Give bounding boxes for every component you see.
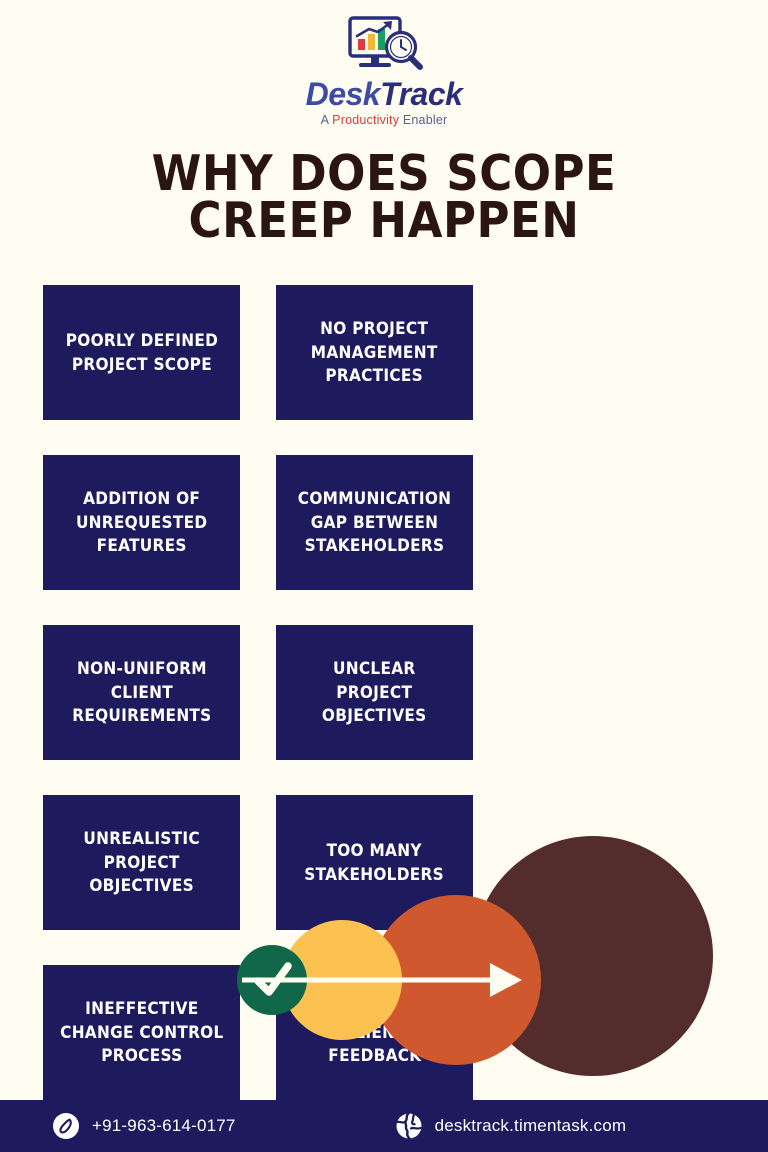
brand-wordmark-desk: Desk: [306, 76, 381, 112]
cause-label-line: Communication: [298, 489, 452, 508]
footer-website-text: desktrack.timentask.com: [435, 1116, 627, 1136]
cause-label-line: Stakeholders: [305, 536, 445, 555]
footer-phone-text: +91-963-614-0177: [92, 1116, 236, 1136]
cause-label: Non-UniformClientRequirements: [72, 657, 211, 729]
footer-phone[interactable]: +91-963-614-0177: [52, 1112, 236, 1140]
cause-label-line: Ineffective: [85, 999, 198, 1018]
cause-label-line: Project: [104, 853, 180, 872]
cause-box-no-project-management-practices: No ProjectManagementPractices: [276, 285, 473, 420]
cause-label-line: Project: [337, 683, 413, 702]
cause-label: Poorly DefinedProject Scope: [65, 329, 217, 377]
cause-label: UnclearProjectObjectives: [322, 657, 427, 729]
cause-box-unclear-project-objectives: UnclearProjectObjectives: [276, 625, 473, 760]
cause-label-line: Practices: [326, 366, 424, 385]
cause-label: No ProjectManagementPractices: [311, 317, 438, 389]
cause-label: IneffectiveChange ControlProcess: [60, 997, 223, 1069]
cause-label-line: Management: [311, 343, 438, 362]
scope-creep-growing-circles: [232, 835, 722, 1100]
brand-logo: DeskTrack A Productivity Enabler: [0, 0, 768, 127]
cause-box-unrealistic-project-objectives: UnrealisticProjectObjectives: [43, 795, 240, 930]
cause-label-line: Poorly Defined: [65, 331, 217, 350]
cause-label-line: No Project: [320, 319, 428, 338]
cause-label-line: Unclear: [333, 659, 415, 678]
brand-wordmark: DeskTrack: [306, 78, 463, 110]
cause-label-line: Requirements: [72, 706, 211, 725]
cause-label: Addition OfUnrequestedFeatures: [76, 487, 207, 559]
phone-icon: [52, 1112, 80, 1140]
cause-label-line: Gap Between: [311, 513, 439, 532]
cause-label-line: Client: [110, 683, 172, 702]
monitor-chart-clock-icon: [336, 14, 432, 76]
cause-label: CommunicationGap BetweenStakeholders: [298, 487, 452, 559]
cause-label-line: Objectives: [89, 876, 194, 895]
cause-label-line: Non-Uniform: [77, 659, 207, 678]
cause-box-addition-of-unrequested-features: Addition OfUnrequestedFeatures: [43, 455, 240, 590]
cause-box-ineffective-change-control-process: IneffectiveChange ControlProcess: [43, 965, 240, 1100]
cause-box-non-uniform-client-requirements: Non-UniformClientRequirements: [43, 625, 240, 760]
cause-label-line: Addition Of: [83, 489, 200, 508]
footer-website[interactable]: desktrack.timentask.com: [395, 1112, 627, 1140]
cause-label-line: Features: [96, 536, 186, 555]
page-title: Why Does Scope Creep Happen: [80, 151, 687, 244]
brand-wordmark-track: Track: [380, 76, 462, 112]
cause-box-communication-gap-between-stakeholders: CommunicationGap BetweenStakeholders: [276, 455, 473, 590]
footer-bar: +91-963-614-0177 desktrack.timentask.com: [0, 1100, 768, 1152]
tagline-prefix: A: [321, 113, 333, 127]
tagline-suffix: Enabler: [399, 113, 447, 127]
cause-label-line: Process: [101, 1046, 182, 1065]
cause-label-line: Unrequested: [76, 513, 207, 532]
cause-label-line: Unrealistic: [83, 829, 200, 848]
cause-label-line: Change Control: [60, 1023, 223, 1042]
cause-label-line: Objectives: [322, 706, 427, 725]
globe-icon: [395, 1112, 423, 1140]
tagline-highlight: Productivity: [332, 113, 399, 127]
cause-label: UnrealisticProjectObjectives: [83, 827, 200, 899]
cause-label-line: Project Scope: [71, 355, 211, 374]
brand-tagline: A Productivity Enabler: [321, 113, 448, 127]
cause-box-poorly-defined-project-scope: Poorly DefinedProject Scope: [43, 285, 240, 420]
